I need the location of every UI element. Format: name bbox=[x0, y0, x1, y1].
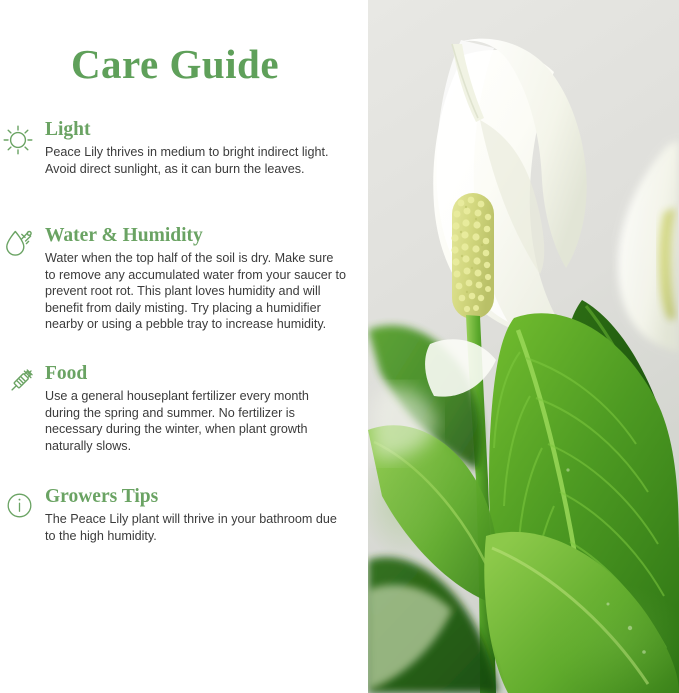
page-title: Care Guide bbox=[0, 40, 350, 88]
care-section-body: Light Peace Lily thrives in medium to br… bbox=[45, 119, 368, 177]
care-section-light: Light Peace Lily thrives in medium to br… bbox=[0, 119, 368, 177]
syringe-icon bbox=[2, 362, 40, 400]
info-circle-icon bbox=[3, 487, 41, 525]
care-section-text: Water when the top half of the soil is d… bbox=[45, 250, 346, 333]
care-section-heading: Food bbox=[45, 363, 346, 385]
care-guide-panel: Care Guide Light Peace Lily thrives bbox=[0, 0, 368, 693]
care-section-water: Water & Humidity Water when the top half… bbox=[0, 225, 368, 333]
care-section-text: The Peace Lily plant will thrive in your… bbox=[45, 511, 346, 544]
care-section-body: Water & Humidity Water when the top half… bbox=[45, 225, 368, 333]
water-droplet-humidity-icon bbox=[1, 225, 39, 263]
care-section-text: Peace Lily thrives in medium to bright i… bbox=[45, 144, 346, 177]
sun-icon bbox=[0, 121, 37, 159]
care-section-body: Food Use a general houseplant fertilizer… bbox=[45, 363, 368, 454]
care-guide-page: Care Guide Light Peace Lily thrives bbox=[0, 0, 679, 693]
care-section-text: Use a general houseplant fertilizer ever… bbox=[45, 388, 346, 454]
care-section-heading: Light bbox=[45, 119, 346, 141]
care-section-food: Food Use a general houseplant fertilizer… bbox=[0, 363, 368, 454]
peace-lily-photo bbox=[368, 0, 679, 693]
care-section-heading: Water & Humidity bbox=[45, 225, 346, 247]
peace-lily-illustration bbox=[368, 0, 679, 693]
care-section-body: Growers Tips The Peace Lily plant will t… bbox=[45, 486, 368, 544]
care-section-growers-tips: Growers Tips The Peace Lily plant will t… bbox=[0, 486, 368, 544]
care-section-heading: Growers Tips bbox=[45, 486, 346, 508]
